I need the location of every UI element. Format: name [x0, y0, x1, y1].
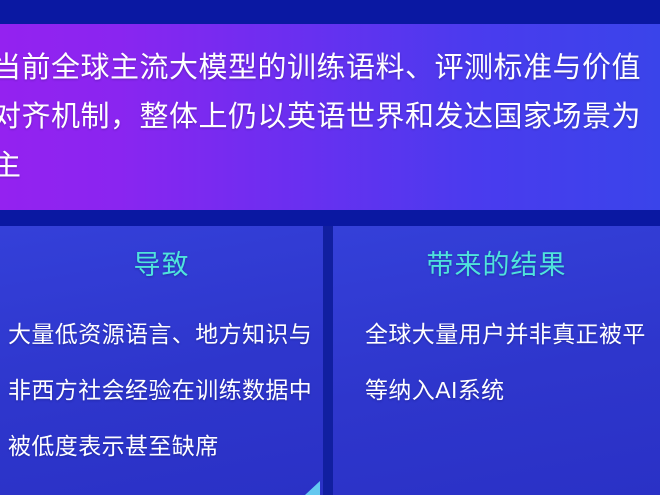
- banner-cards-gap: [0, 210, 660, 226]
- card-cause-body: 大量低资源语言、地方知识与非西方社会经验在训练数据中被低度表示甚至缺席: [8, 306, 323, 474]
- slide-canvas: 当前全球主流大模型的训练语料、评测标准与价值对齐机制，整体上仍以英语世界和发达国…: [0, 0, 660, 495]
- hero-banner: 当前全球主流大模型的训练语料、评测标准与价值对齐机制，整体上仍以英语世界和发达国…: [0, 24, 660, 210]
- card-cause[interactable]: 导致 大量低资源语言、地方知识与非西方社会经验在训练数据中被低度表示甚至缺席: [0, 226, 323, 495]
- corner-triangle-icon: [305, 481, 320, 495]
- card-result-title: 带来的结果: [333, 248, 660, 282]
- top-background-strip: [0, 0, 660, 24]
- cards-divider: [323, 226, 333, 495]
- card-result-body: 全球大量用户并非真正被平等纳入AI系统: [365, 306, 660, 418]
- card-cause-title: 导致: [0, 248, 323, 282]
- hero-banner-text: 当前全球主流大模型的训练语料、评测标准与价值对齐机制，整体上仍以英语世界和发达国…: [0, 44, 660, 191]
- cards-row: 导致 大量低资源语言、地方知识与非西方社会经验在训练数据中被低度表示甚至缺席 带…: [0, 226, 660, 495]
- card-result[interactable]: 带来的结果 全球大量用户并非真正被平等纳入AI系统: [333, 226, 660, 495]
